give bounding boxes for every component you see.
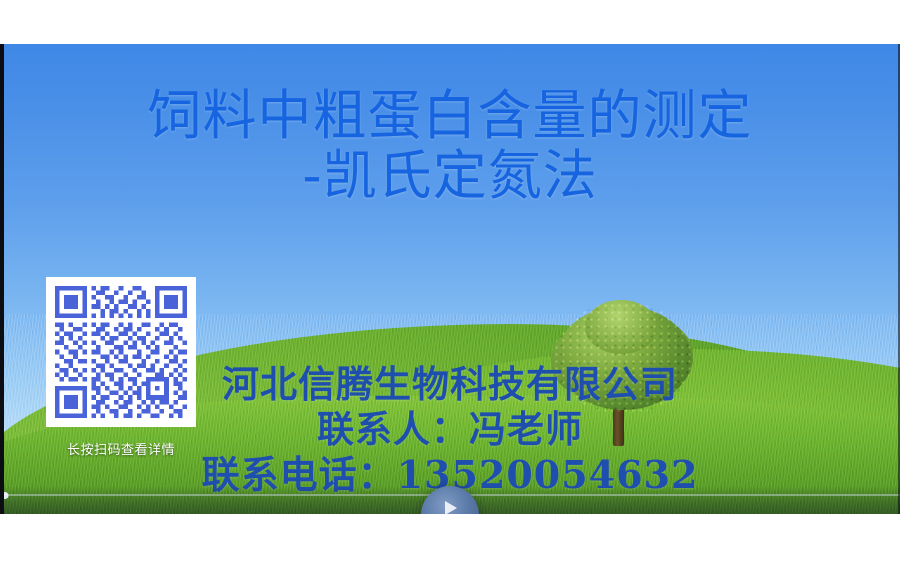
top-letterbox [0,0,900,44]
qr-caption: 长按扫码查看详情 [46,439,196,458]
video-player[interactable]: 饲料中粗蛋白含量的测定 -凯氏定氮法 [0,44,900,514]
qr-code-card[interactable] [46,277,196,427]
video-title-line-1: 饲料中粗蛋白含量的测定 [0,86,900,146]
bottom-letterbox [0,514,900,561]
qr-code-image[interactable] [55,286,187,418]
video-title: 饲料中粗蛋白含量的测定 -凯氏定氮法 [0,86,900,207]
play-icon [445,501,457,514]
video-title-line-2: -凯氏定氮法 [0,146,900,206]
qr-code-block[interactable]: 长按扫码查看详情 [46,277,196,458]
video-left-border [0,44,4,514]
